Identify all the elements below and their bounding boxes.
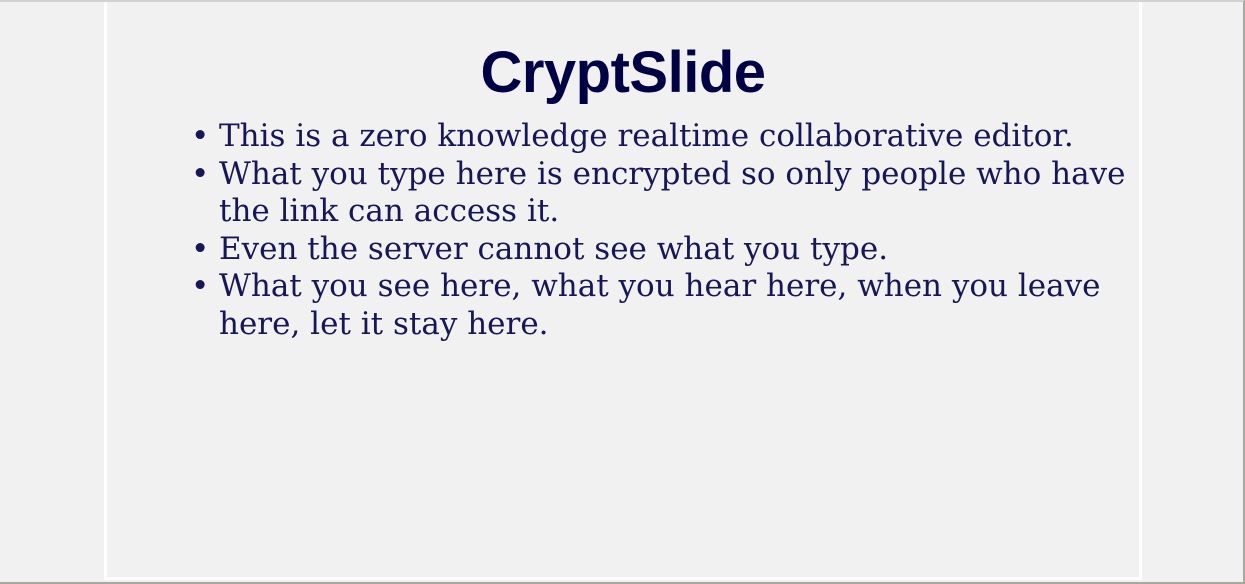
bullet-point-icon: •	[191, 118, 205, 156]
list-item-text: What you type here is encrypted so only …	[219, 156, 1132, 231]
bullet-point-icon: •	[191, 268, 205, 306]
slide-title[interactable]: CryptSlide	[107, 44, 1139, 102]
bullet-point-icon: •	[191, 156, 205, 194]
slide-bullet-list: • This is a zero knowledge realtime coll…	[147, 118, 1132, 343]
list-item-text: Even the server cannot see what you type…	[219, 231, 1132, 269]
bullet-point-icon: •	[191, 231, 205, 269]
list-item-text: What you see here, what you hear here, w…	[219, 268, 1132, 343]
list-item[interactable]: • What you see here, what you hear here,…	[147, 268, 1132, 343]
list-item[interactable]: • What you type here is encrypted so onl…	[147, 156, 1132, 231]
slide-content: CryptSlide • This is a zero knowledge re…	[107, 2, 1139, 577]
list-item[interactable]: • Even the server cannot see what you ty…	[147, 231, 1132, 269]
list-item-text: This is a zero knowledge realtime collab…	[219, 118, 1132, 156]
slide-canvas[interactable]: CryptSlide • This is a zero knowledge re…	[104, 2, 1142, 580]
list-item[interactable]: • This is a zero knowledge realtime coll…	[147, 118, 1132, 156]
slide-viewer: CryptSlide • This is a zero knowledge re…	[0, 2, 1241, 582]
